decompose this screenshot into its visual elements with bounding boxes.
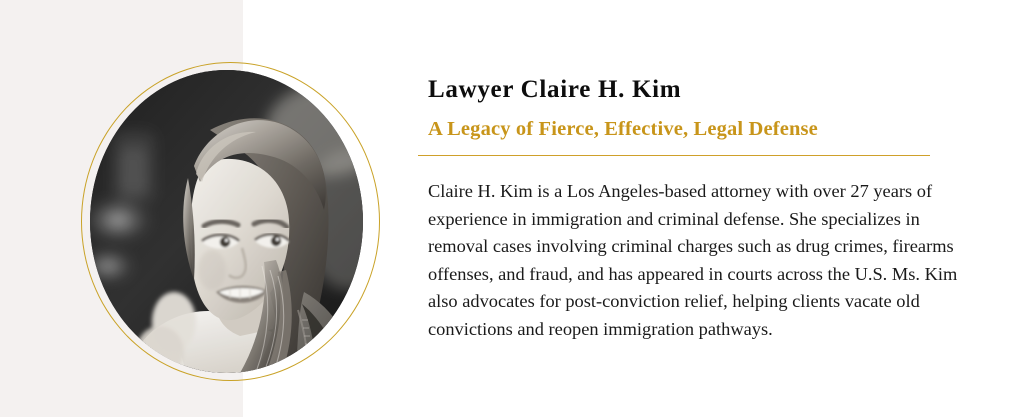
profile-text-column: Lawyer Claire H. Kim A Legacy of Fierce,… [428,0,988,417]
portrait-container [81,62,384,385]
profile-bio-text: Claire H. Kim is a Los Angeles-based att… [428,178,964,344]
attorney-portrait-photo [90,70,363,373]
attorney-profile-card: Lawyer Claire H. Kim A Legacy of Fierce,… [0,0,1024,417]
page-title: Lawyer Claire H. Kim [428,76,681,104]
profile-tagline: A Legacy of Fierce, Effective, Legal Def… [428,118,818,141]
gold-divider [418,155,930,156]
